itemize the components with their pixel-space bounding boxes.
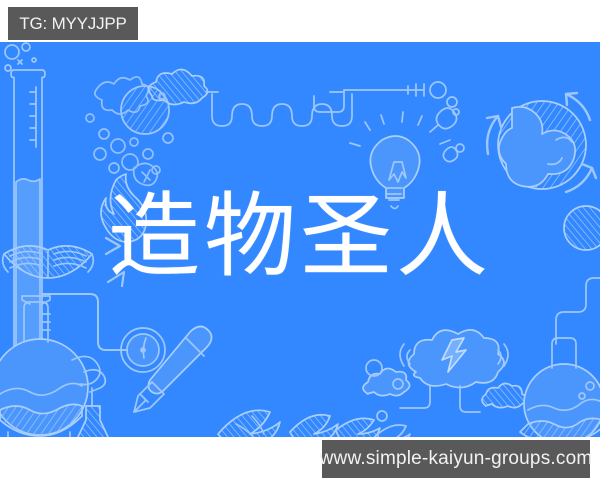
arrow-marks-icon [106,238,124,286]
page-root: 造物圣人 TG: MYYJJPP www.simple-kaiyun-group… [0,0,600,480]
flame-leaf-icon [101,174,146,242]
watermark-bottom-right-label: www.simple-kaiyun-groups.com [320,448,593,470]
lightbulb-icon [350,112,450,209]
globe-recycle-icon [487,93,596,192]
watermark-bottom-right: www.simple-kaiyun-groups.com [322,440,590,478]
flask-tube-icon [520,278,600,437]
thought-cloud-bolt-icon [363,330,526,421]
key-icon [314,82,459,115]
cloud-icon [149,69,208,104]
hero-banner: 造物圣人 [0,42,600,437]
watermark-top-left: TG: MYYJJPP [8,7,138,40]
bubbles-icon [5,43,36,71]
hatched-sphere-icon [564,206,600,250]
leaf-icon [218,410,410,437]
pressure-gauge-icon [121,328,165,372]
small-cells-icon [436,108,464,162]
coil-spring-icon [206,92,352,126]
watermark-top-left-label: TG: MYYJJPP [19,14,126,34]
banner-doodle-artwork [0,42,600,437]
